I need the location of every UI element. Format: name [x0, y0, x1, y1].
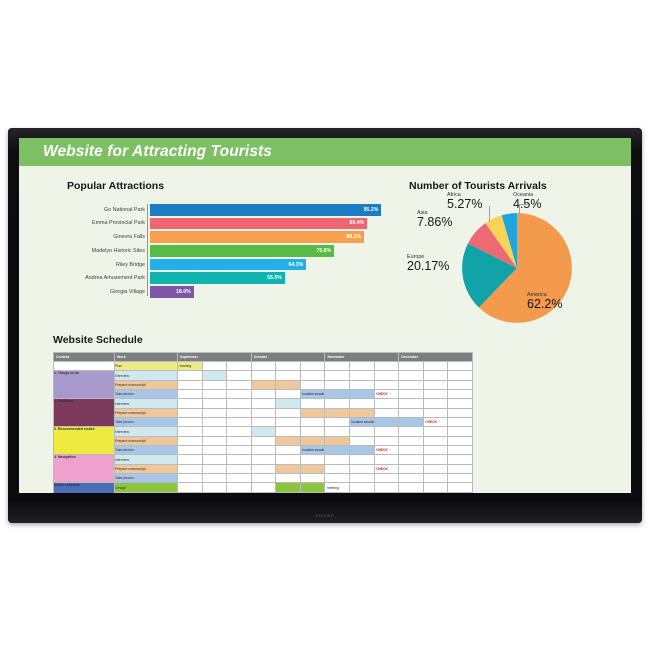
schedule-week-cell[interactable]: [374, 408, 399, 417]
schedule-week-cell[interactable]: [399, 418, 424, 427]
schedule-week-cell[interactable]: [399, 390, 424, 399]
schedule-week-cell[interactable]: [227, 380, 252, 389]
schedule-week-cell[interactable]: [178, 455, 203, 464]
schedule-work-cell: Take photos: [115, 418, 178, 427]
schedule-week-cell[interactable]: [251, 390, 276, 399]
table-row: Prepare manuscriptCHECK: [54, 464, 473, 473]
schedule-week-cell[interactable]: [300, 474, 325, 483]
schedule-week-cell[interactable]: [276, 492, 301, 493]
schedule-week-cell[interactable]: [251, 446, 276, 455]
schedule-week-cell[interactable]: [178, 408, 203, 417]
pie-label-oceania: Oceania4.5%: [513, 192, 542, 211]
schedule-week-cell[interactable]: [178, 399, 203, 408]
schedule-week-cell[interactable]: [300, 492, 325, 493]
schedule-week-cell[interactable]: [300, 371, 325, 380]
bar-row: Madelyn Historic Sites75.8%: [53, 245, 393, 257]
bar-category-label: Andrea Amusement Park: [53, 275, 150, 281]
schedule-week-cell[interactable]: [325, 362, 350, 371]
schedule-week-cell[interactable]: [251, 483, 276, 492]
monitor-bezel: SHARP Website for Attracting Tourists Po…: [8, 128, 642, 523]
schedule-week-cell[interactable]: [350, 362, 375, 371]
schedule-note-label: meeting: [327, 486, 339, 490]
schedule-week-cell[interactable]: [374, 371, 399, 380]
schedule-week-cell[interactable]: [227, 436, 252, 445]
bar-fill[interactable]: 88.1%: [150, 231, 364, 243]
brand-logo: SHARP: [315, 513, 335, 518]
schedule-work-cell: Interview: [115, 455, 178, 464]
table-row: 3. Recommended routesInterview: [54, 427, 473, 436]
schedule-week-cell[interactable]: [374, 483, 399, 492]
schedule-week-cell[interactable]: [276, 418, 301, 427]
schedule-week-cell[interactable]: [251, 455, 276, 464]
pie-label-asia: Asia7.86%: [417, 210, 452, 229]
schedule-week-cell[interactable]: [202, 390, 227, 399]
website-schedule-section: Website Schedule ContentWorkSeptemberOct…: [53, 334, 609, 493]
schedule-week-cell[interactable]: [423, 399, 448, 408]
schedule-work-cell: Interview: [115, 427, 178, 436]
schedule-header-row: ContentWorkSeptemberOctoberNovemberDecem…: [54, 353, 473, 362]
schedule-work-cell: Design: [115, 483, 178, 492]
schedule-week-cell[interactable]: [448, 418, 473, 427]
schedule-work-cell: Take photos: [115, 390, 178, 399]
table-row: Take photoslocation scouting / photograp…: [54, 418, 473, 427]
schedule-week-cell[interactable]: [448, 455, 473, 464]
bar-rows-container: Go National Park95.2%Emma Provincial Par…: [53, 204, 393, 298]
schedule-week-cell[interactable]: [300, 380, 325, 389]
table-row: Entire scheduleDesignmeeting: [54, 483, 473, 492]
schedule-week-cell[interactable]: [423, 408, 448, 417]
schedule-week-cell[interactable]: [276, 474, 301, 483]
schedule-week-cell[interactable]: [251, 380, 276, 389]
schedule-week-cell[interactable]: [178, 371, 203, 380]
schedule-table[interactable]: ContentWorkSeptemberOctoberNovemberDecem…: [53, 352, 473, 493]
table-row: Take photoslocation scouting / photograp…: [54, 390, 473, 399]
schedule-week-cell[interactable]: CHECK: [423, 418, 448, 427]
bar-fill[interactable]: 95.2%: [150, 204, 381, 216]
schedule-week-cell[interactable]: [251, 474, 276, 483]
schedule-week-cell[interactable]: [300, 399, 325, 408]
schedule-week-cell[interactable]: [178, 474, 203, 483]
schedule-week-cell[interactable]: [374, 436, 399, 445]
schedule-work-cell: Prepare manuscript: [115, 408, 178, 417]
table-row: Prepare manuscript: [54, 408, 473, 417]
schedule-week-cell[interactable]: [300, 436, 325, 445]
schedule-week-cell[interactable]: [227, 408, 252, 417]
schedule-week-cell[interactable]: [227, 455, 252, 464]
table-row: 1. Things to doInterview: [54, 371, 473, 380]
bar-row: Ginevra Falls88.1%: [53, 231, 393, 243]
schedule-week-cell[interactable]: [423, 446, 448, 455]
schedule-week-cell[interactable]: [350, 380, 375, 389]
schedule-week-cell[interactable]: [202, 436, 227, 445]
schedule-week-cell[interactable]: [202, 371, 227, 380]
table-row: Planmeeting: [54, 362, 473, 371]
schedule-week-cell[interactable]: [202, 408, 227, 417]
schedule-work-cell: Coding: [115, 492, 178, 493]
schedule-week-cell[interactable]: [276, 390, 301, 399]
schedule-month-header: September: [178, 353, 252, 362]
table-row: Codingmeeting: [54, 492, 473, 493]
schedule-heading: Website Schedule: [53, 334, 609, 346]
schedule-work-cell: Take photos: [115, 474, 178, 483]
schedule-week-cell[interactable]: [202, 399, 227, 408]
schedule-week-cell[interactable]: [423, 380, 448, 389]
schedule-check-label: CHECK: [376, 448, 388, 452]
schedule-col-work: Work: [115, 353, 178, 362]
schedule-week-cell[interactable]: [350, 474, 375, 483]
schedule-work-cell: Take photos: [115, 446, 178, 455]
schedule-week-cell[interactable]: [399, 399, 424, 408]
schedule-week-cell[interactable]: [276, 362, 301, 371]
schedule-week-cell[interactable]: [423, 390, 448, 399]
schedule-week-cell[interactable]: [448, 427, 473, 436]
bar-chart-heading: Popular Attractions: [67, 180, 393, 192]
schedule-week-cell[interactable]: [202, 483, 227, 492]
schedule-week-cell[interactable]: [423, 474, 448, 483]
schedule-week-cell[interactable]: [423, 483, 448, 492]
schedule-week-cell[interactable]: [350, 390, 375, 399]
schedule-week-cell[interactable]: [423, 455, 448, 464]
schedule-note-label: location scouting / photographing: [352, 420, 375, 424]
schedule-week-cell[interactable]: [448, 483, 473, 492]
pie-label-europe: Europe20.17%: [407, 254, 449, 273]
schedule-note-label: location scouting / photographing: [302, 448, 325, 452]
schedule-week-cell[interactable]: [251, 371, 276, 380]
schedule-week-cell[interactable]: [227, 399, 252, 408]
bar-row: Riley Bridge64.3%: [53, 259, 393, 271]
schedule-week-cell[interactable]: [399, 446, 424, 455]
schedule-week-cell[interactable]: [350, 399, 375, 408]
display-monitor: SHARP Website for Attracting Tourists Po…: [8, 128, 642, 523]
schedule-week-cell[interactable]: [178, 390, 203, 399]
schedule-week-cell[interactable]: [202, 362, 227, 371]
table-row: 2. FacilitiesInterview: [54, 399, 473, 408]
schedule-week-cell[interactable]: [178, 492, 203, 493]
bar-value-label: 75.8%: [316, 248, 331, 254]
schedule-week-cell[interactable]: [202, 474, 227, 483]
schedule-week-cell[interactable]: [202, 418, 227, 427]
bar-track: 55.5%: [150, 272, 393, 284]
schedule-week-cell[interactable]: [251, 362, 276, 371]
pie-leader-line: [489, 206, 490, 222]
schedule-work-cell: Plan: [115, 362, 178, 371]
schedule-week-cell[interactable]: location scouting / photographing: [300, 390, 325, 399]
schedule-week-cell[interactable]: [276, 380, 301, 389]
schedule-note-label: meeting: [180, 364, 192, 368]
schedule-week-cell[interactable]: [448, 464, 473, 473]
page-titlebar: Website for Attracting Tourists: [19, 138, 631, 166]
schedule-week-cell[interactable]: [227, 483, 252, 492]
schedule-week-cell[interactable]: [374, 399, 399, 408]
schedule-week-cell[interactable]: [202, 427, 227, 436]
bar-track: 75.8%: [150, 245, 393, 257]
dashboard-body: Popular Attractions Go National Park95.2…: [19, 166, 631, 493]
schedule-week-cell[interactable]: [448, 446, 473, 455]
schedule-week-cell[interactable]: [178, 418, 203, 427]
schedule-week-cell[interactable]: meeting: [178, 362, 203, 371]
table-row: Prepare manuscript: [54, 380, 473, 389]
bar-category-label: Madelyn Historic Sites: [53, 248, 150, 254]
schedule-week-cell[interactable]: [350, 483, 375, 492]
bar-track: 95.2%: [150, 204, 393, 216]
schedule-week-cell[interactable]: [178, 483, 203, 492]
popular-attractions-chart: Popular Attractions Go National Park95.2…: [53, 180, 393, 300]
schedule-check-label: CHECK: [425, 420, 437, 424]
schedule-week-cell[interactable]: [325, 427, 350, 436]
schedule-week-cell[interactable]: meeting: [399, 492, 424, 493]
schedule-week-cell[interactable]: [423, 492, 448, 493]
schedule-week-cell[interactable]: [423, 427, 448, 436]
schedule-week-cell[interactable]: [300, 418, 325, 427]
bar-category-label: Go National Park: [53, 207, 150, 213]
schedule-col-content: Content: [54, 353, 115, 362]
bar-fill[interactable]: 64.3%: [150, 259, 306, 271]
schedule-week-cell[interactable]: [178, 464, 203, 473]
schedule-work-cell: Prepare manuscript: [115, 436, 178, 445]
schedule-week-cell[interactable]: [350, 455, 375, 464]
schedule-week-cell[interactable]: [178, 446, 203, 455]
schedule-week-cell[interactable]: [300, 408, 325, 417]
bar-chart-axis: [147, 204, 148, 296]
schedule-category-cell: 1. Things to do: [54, 371, 115, 399]
schedule-category-cell: 4. Navigation: [54, 455, 115, 483]
schedule-week-cell[interactable]: [448, 492, 473, 493]
schedule-week-cell[interactable]: [374, 427, 399, 436]
table-row: Prepare manuscript: [54, 436, 473, 445]
schedule-category-cell: [54, 362, 115, 371]
bar-category-label: Giorgia Village: [53, 289, 150, 295]
pie-leader-line: [519, 204, 528, 205]
schedule-week-cell[interactable]: [448, 380, 473, 389]
schedule-week-cell[interactable]: [350, 446, 375, 455]
schedule-week-cell[interactable]: [399, 436, 424, 445]
schedule-week-cell[interactable]: [423, 362, 448, 371]
bar-value-label: 18.0%: [176, 289, 191, 295]
bar-value-label: 55.5%: [267, 275, 282, 281]
schedule-week-cell[interactable]: [227, 390, 252, 399]
pie-chart-heading: Number of Tourists Arrivals: [409, 180, 624, 192]
pie-leader-line: [519, 204, 520, 214]
bar-value-label: 95.2%: [364, 207, 379, 213]
pie-label-value: 7.86%: [417, 216, 452, 229]
schedule-week-cell[interactable]: [374, 380, 399, 389]
schedule-week-cell[interactable]: [374, 362, 399, 371]
schedule-week-cell[interactable]: [202, 464, 227, 473]
schedule-week-cell[interactable]: [178, 436, 203, 445]
schedule-week-cell[interactable]: location scouting / photographing: [300, 446, 325, 455]
pie-label-value: 20.17%: [407, 260, 449, 273]
schedule-week-cell[interactable]: [423, 371, 448, 380]
schedule-week-cell[interactable]: [448, 371, 473, 380]
schedule-week-cell[interactable]: [325, 399, 350, 408]
bar-fill[interactable]: 75.8%: [150, 245, 334, 257]
table-row: 4. NavigationInterview: [54, 455, 473, 464]
schedule-week-cell[interactable]: [325, 492, 350, 493]
schedule-note-label: location scouting / photographing: [302, 392, 325, 396]
pie-label-value: 5.27%: [447, 198, 482, 211]
schedule-week-cell[interactable]: [448, 474, 473, 483]
schedule-week-cell[interactable]: [251, 464, 276, 473]
schedule-week-cell[interactable]: [423, 464, 448, 473]
schedule-week-cell[interactable]: [399, 455, 424, 464]
schedule-week-cell[interactable]: [325, 418, 350, 427]
schedule-week-cell[interactable]: [448, 399, 473, 408]
schedule-week-cell[interactable]: [374, 492, 399, 493]
schedule-week-cell[interactable]: [251, 436, 276, 445]
pie-label-africa: Africa5.27%: [447, 192, 482, 211]
schedule-week-cell[interactable]: [251, 418, 276, 427]
schedule-category-cell: 2. Facilities: [54, 399, 115, 427]
schedule-week-cell[interactable]: [374, 418, 399, 427]
schedule-week-cell[interactable]: [276, 455, 301, 464]
schedule-week-cell[interactable]: [227, 418, 252, 427]
schedule-week-cell[interactable]: [202, 380, 227, 389]
schedule-week-cell[interactable]: [300, 455, 325, 464]
schedule-week-cell[interactable]: [276, 446, 301, 455]
schedule-week-cell[interactable]: [202, 446, 227, 455]
schedule-week-cell[interactable]: [276, 408, 301, 417]
schedule-work-cell: Prepare manuscript: [115, 380, 178, 389]
schedule-week-cell[interactable]: [399, 408, 424, 417]
bar-value-label: 89.4%: [350, 220, 365, 226]
bar-chart-plot: Go National Park95.2%Emma Provincial Par…: [53, 204, 393, 298]
schedule-work-cell: Prepare manuscript: [115, 464, 178, 473]
schedule-week-cell[interactable]: [251, 427, 276, 436]
schedule-week-cell[interactable]: [300, 362, 325, 371]
bar-category-label: Riley Bridge: [53, 262, 150, 268]
pie-label-america: America62.2%: [527, 292, 562, 311]
schedule-week-cell[interactable]: [227, 371, 252, 380]
bar-fill[interactable]: 89.4%: [150, 218, 367, 230]
schedule-week-cell[interactable]: [325, 380, 350, 389]
schedule-week-cell[interactable]: [251, 408, 276, 417]
schedule-week-cell[interactable]: [276, 399, 301, 408]
schedule-week-cell[interactable]: [350, 427, 375, 436]
schedule-week-cell[interactable]: [276, 371, 301, 380]
schedule-week-cell[interactable]: [374, 455, 399, 464]
schedule-category-cell: Entire schedule: [54, 483, 115, 493]
schedule-week-cell[interactable]: [276, 427, 301, 436]
schedule-week-cell[interactable]: [325, 390, 350, 399]
schedule-week-cell[interactable]: [178, 380, 203, 389]
schedule-week-cell[interactable]: [448, 390, 473, 399]
schedule-week-cell[interactable]: [251, 399, 276, 408]
schedule-month-header: November: [325, 353, 399, 362]
schedule-week-cell[interactable]: [399, 474, 424, 483]
bar-value-label: 64.3%: [289, 262, 304, 268]
schedule-week-cell[interactable]: [374, 474, 399, 483]
schedule-week-cell[interactable]: [325, 464, 350, 473]
schedule-week-cell[interactable]: [325, 436, 350, 445]
bar-category-label: Emma Provincial Park: [53, 220, 150, 226]
table-row: Take photoslocation scouting / photograp…: [54, 446, 473, 455]
schedule-week-cell[interactable]: [202, 492, 227, 493]
bar-row: Giorgia Village18.0%: [53, 286, 393, 298]
schedule-week-cell[interactable]: meeting: [325, 483, 350, 492]
schedule-week-cell[interactable]: [178, 427, 203, 436]
bar-fill[interactable]: 55.5%: [150, 272, 285, 284]
tourist-arrivals-chart: Number of Tourists Arrivals America62.2%…: [409, 180, 624, 335]
bar-track: 88.1%: [150, 231, 393, 243]
schedule-week-cell[interactable]: [423, 436, 448, 445]
schedule-week-cell[interactable]: [350, 492, 375, 493]
schedule-table-head: ContentWorkSeptemberOctoberNovemberDecem…: [54, 353, 473, 362]
schedule-week-cell[interactable]: [350, 408, 375, 417]
schedule-week-cell[interactable]: [251, 492, 276, 493]
bar-track: 64.3%: [150, 259, 393, 271]
schedule-week-cell[interactable]: [227, 362, 252, 371]
schedule-week-cell[interactable]: [399, 380, 424, 389]
schedule-week-cell[interactable]: [399, 464, 424, 473]
schedule-week-cell[interactable]: [399, 362, 424, 371]
schedule-week-cell[interactable]: [300, 464, 325, 473]
schedule-week-cell[interactable]: [227, 446, 252, 455]
schedule-week-cell[interactable]: [350, 464, 375, 473]
pie-label-value: 62.2%: [527, 298, 562, 311]
schedule-week-cell[interactable]: [227, 492, 252, 493]
schedule-category-cell: 3. Recommended routes: [54, 427, 115, 455]
bar-track: 89.4%: [150, 218, 393, 230]
schedule-week-cell[interactable]: [448, 362, 473, 371]
table-row: Take photos: [54, 474, 473, 483]
schedule-week-cell[interactable]: [325, 474, 350, 483]
schedule-week-cell[interactable]: CHECK: [374, 446, 399, 455]
schedule-week-cell[interactable]: [325, 371, 350, 380]
schedule-check-label: CHECK: [376, 467, 388, 471]
schedule-week-cell[interactable]: [202, 455, 227, 464]
schedule-week-cell[interactable]: [227, 464, 252, 473]
schedule-week-cell[interactable]: CHECK: [374, 390, 399, 399]
schedule-week-cell[interactable]: [399, 371, 424, 380]
bar-row: Go National Park95.2%: [53, 204, 393, 216]
schedule-week-cell[interactable]: [276, 483, 301, 492]
bar-category-label: Ginevra Falls: [53, 234, 150, 240]
schedule-month-header: December: [399, 353, 473, 362]
schedule-week-cell[interactable]: [300, 427, 325, 436]
bar-track: 18.0%: [150, 286, 393, 298]
page-title: Website for Attracting Tourists: [19, 143, 272, 161]
bar-row: Andrea Amusement Park55.5%: [53, 272, 393, 284]
schedule-week-cell[interactable]: [399, 483, 424, 492]
bar-value-label: 88.1%: [346, 234, 361, 240]
schedule-week-cell[interactable]: [325, 408, 350, 417]
schedule-month-header: October: [251, 353, 325, 362]
schedule-table-body: Planmeeting1. Things to doInterviewPrepa…: [54, 362, 473, 494]
screen-content: Website for Attracting Tourists Popular …: [19, 138, 631, 493]
schedule-week-cell[interactable]: [448, 408, 473, 417]
schedule-week-cell[interactable]: [276, 436, 301, 445]
schedule-check-label: CHECK: [376, 392, 388, 396]
schedule-week-cell[interactable]: [227, 427, 252, 436]
schedule-week-cell[interactable]: [399, 427, 424, 436]
schedule-week-cell[interactable]: [325, 455, 350, 464]
schedule-week-cell[interactable]: [350, 371, 375, 380]
bar-fill[interactable]: 18.0%: [150, 286, 194, 298]
schedule-week-cell[interactable]: location scouting / photographing: [350, 418, 375, 427]
schedule-week-cell[interactable]: [350, 436, 375, 445]
schedule-week-cell[interactable]: [227, 474, 252, 483]
bar-row: Emma Provincial Park89.4%: [53, 218, 393, 230]
schedule-work-cell: Interview: [115, 371, 178, 380]
schedule-week-cell[interactable]: [448, 436, 473, 445]
schedule-week-cell[interactable]: [276, 464, 301, 473]
schedule-work-cell: Interview: [115, 399, 178, 408]
schedule-week-cell[interactable]: [325, 446, 350, 455]
schedule-week-cell[interactable]: CHECK: [374, 464, 399, 473]
schedule-week-cell[interactable]: [300, 483, 325, 492]
